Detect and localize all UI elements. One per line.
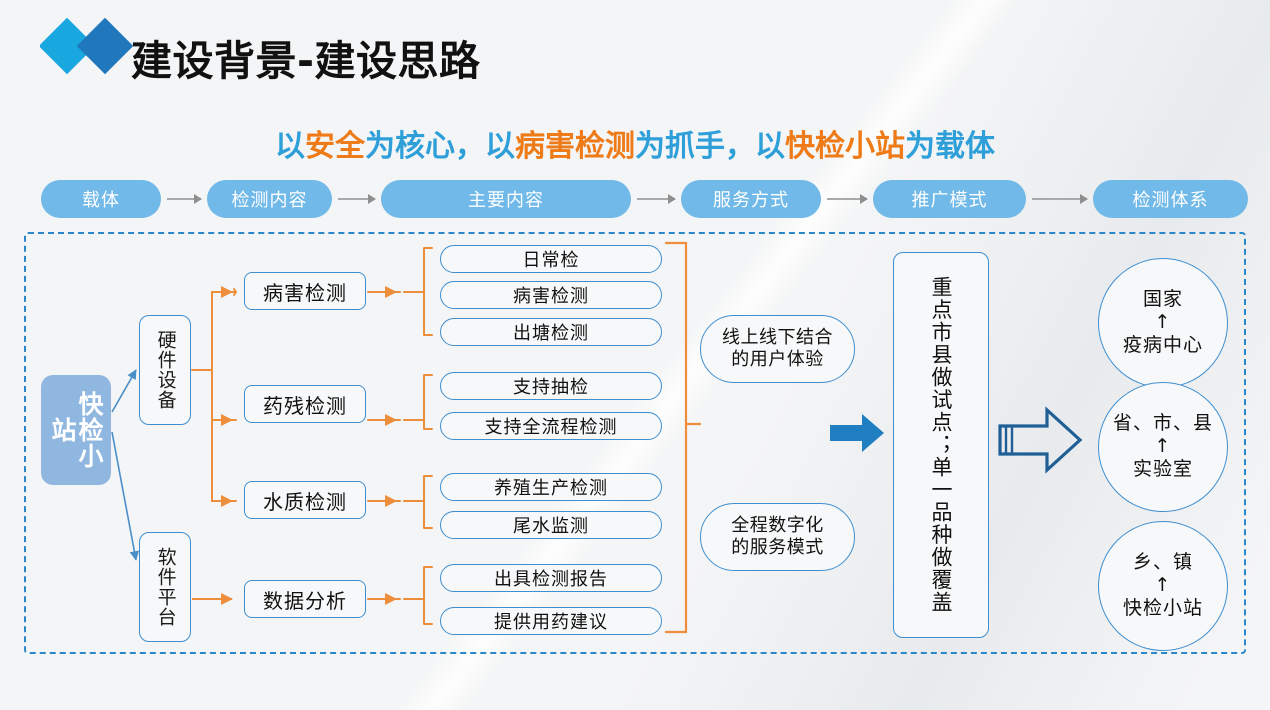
process-step-3[interactable]: 主要内容 <box>381 180 631 218</box>
slide-canvas: 建设背景-建设思路 以安全为核心，以病害检测为抓手，以快检小站为载体 载体检测内… <box>0 0 1270 710</box>
leaf-item-4[interactable]: 支持抽检 <box>440 372 662 400</box>
service-bubble-line1: 线上线下结合 <box>722 327 833 348</box>
subtitle-highlight-3: 快检小站 <box>785 129 905 164</box>
process-step-6[interactable]: 检测体系 <box>1093 180 1248 218</box>
system-circle-2[interactable]: 省、市、县↑实验室 <box>1098 382 1228 512</box>
up-arrow-icon: ↑ <box>1155 436 1172 458</box>
system-circle-bottom-label: 疫病中心 <box>1123 335 1203 357</box>
level2-node-2[interactable]: 软件平台 <box>139 532 191 642</box>
leaf-item-2[interactable]: 病害检测 <box>440 281 662 309</box>
process-step-1[interactable]: 载体 <box>41 180 161 218</box>
subtitle-seg-1: 以 <box>275 129 305 164</box>
system-circle-bottom-label: 快检小站 <box>1123 598 1203 620</box>
service-bubble-2[interactable]: 全程数字化的服务模式 <box>700 503 855 571</box>
process-connector-4 <box>827 198 867 200</box>
process-step-5[interactable]: 推广模式 <box>873 180 1026 218</box>
process-chain: 载体检测内容主要内容服务方式推广模式检测体系 <box>0 180 1270 222</box>
double-diamond-logo-icon <box>40 18 142 90</box>
level3-node-4[interactable]: 数据分析 <box>244 580 366 618</box>
service-bubble-line2: 的服务模式 <box>731 537 824 558</box>
subtitle-seg-2: 为核心，以 <box>365 129 515 164</box>
process-connector-2 <box>338 198 375 200</box>
subtitle-seg-3: 为抓手，以 <box>635 129 785 164</box>
leaf-item-3[interactable]: 出塘检测 <box>440 318 662 346</box>
service-bubble-line1: 全程数字化 <box>731 515 824 536</box>
pilot-strategy-box[interactable]: 重点市县做试点；单一品种做覆盖 <box>893 252 989 638</box>
level2-node-1[interactable]: 硬件设备 <box>139 315 191 425</box>
subtitle-highlight-1: 安全 <box>305 129 365 164</box>
process-connector-1 <box>167 198 201 200</box>
right-arrow-outline-icon <box>995 402 1085 483</box>
level3-node-3[interactable]: 水质检测 <box>244 481 366 519</box>
level3-node-2[interactable]: 药残检测 <box>244 385 366 423</box>
slide-subtitle: 以安全为核心，以病害检测为抓手，以快检小站为载体 <box>0 121 1270 165</box>
system-circle-top-label: 省、市、县 <box>1113 413 1213 435</box>
process-step-2[interactable]: 检测内容 <box>207 180 332 218</box>
process-connector-5 <box>1032 198 1087 200</box>
subtitle-seg-4: 为载体 <box>905 129 995 164</box>
process-connector-3 <box>637 198 675 200</box>
system-circle-top-label: 国家 <box>1143 289 1183 311</box>
system-circle-3[interactable]: 乡、镇↑快检小站 <box>1098 521 1228 651</box>
system-circle-1[interactable]: 国家↑疫病中心 <box>1098 258 1228 388</box>
up-arrow-icon: ↑ <box>1155 312 1172 334</box>
leaf-item-8[interactable]: 出具检测报告 <box>440 564 662 592</box>
service-bubble-1[interactable]: 线上线下结合的用户体验 <box>700 315 855 383</box>
leaf-item-5[interactable]: 支持全流程检测 <box>440 412 662 440</box>
leaf-item-7[interactable]: 尾水监测 <box>440 511 662 539</box>
service-bubble-line2: 的用户体验 <box>731 349 824 370</box>
root-node-kuaijian-station[interactable]: 快检小站 <box>41 375 111 485</box>
leaf-item-6[interactable]: 养殖生产检测 <box>440 473 662 501</box>
system-circle-top-label: 乡、镇 <box>1133 552 1193 574</box>
up-arrow-icon: ↑ <box>1155 575 1172 597</box>
level3-node-1[interactable]: 病害检测 <box>244 272 366 310</box>
subtitle-highlight-2: 病害检测 <box>515 129 635 164</box>
leaf-item-1[interactable]: 日常检 <box>440 245 662 273</box>
leaf-item-9[interactable]: 提供用药建议 <box>440 607 662 635</box>
system-circle-bottom-label: 实验室 <box>1133 459 1193 481</box>
right-arrow-solid-icon <box>828 410 886 461</box>
process-step-4[interactable]: 服务方式 <box>681 180 821 218</box>
page-title: 建设背景-建设思路 <box>131 27 481 87</box>
